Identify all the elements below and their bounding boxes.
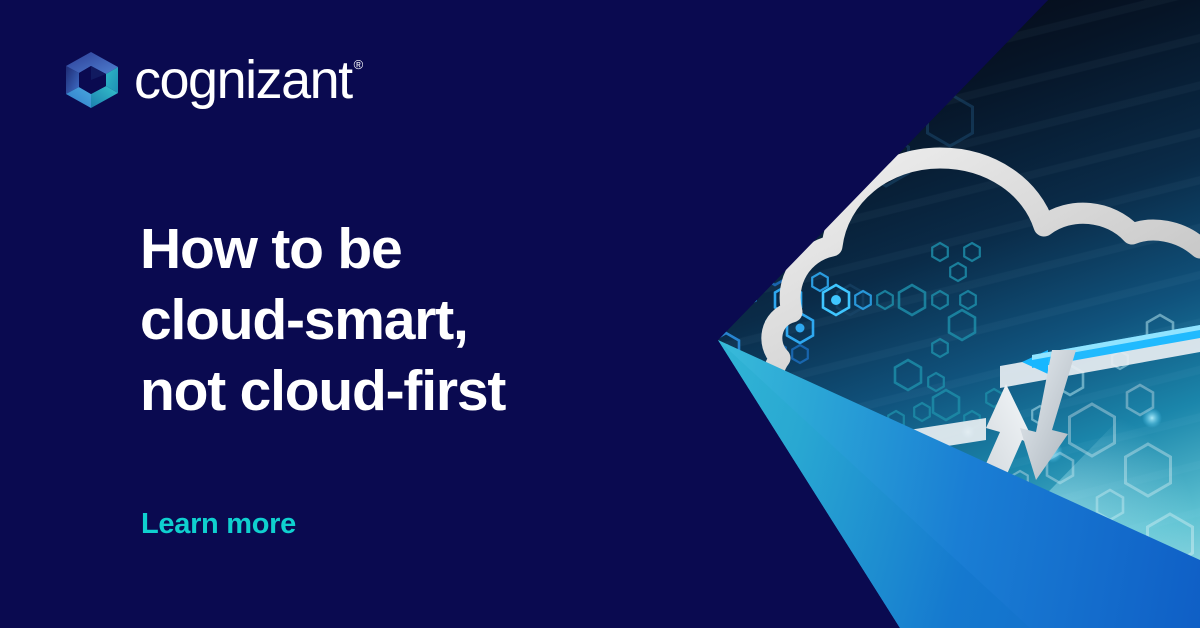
cognizant-logo[interactable]: cognizant ® — [62, 52, 363, 108]
learn-more-link[interactable]: Learn more — [141, 508, 296, 541]
cognizant-cloud-banner: cognizant ® How to be cloud-smart, not c… — [0, 0, 1200, 628]
cognizant-wordmark-wrap: cognizant ® — [134, 52, 363, 108]
headline-line-3: not cloud-first — [140, 356, 680, 427]
cognizant-wordmark: cognizant — [134, 52, 352, 108]
artwork-clip — [700, 0, 1200, 628]
cognizant-hexagon-logo-icon — [62, 50, 120, 110]
headline-line-1: How to be — [140, 214, 680, 285]
content-column: cognizant ® How to be cloud-smart, not c… — [0, 0, 700, 628]
page-title: How to be cloud-smart, not cloud-first — [140, 214, 680, 427]
registered-trademark-symbol: ® — [354, 58, 364, 71]
headline-line-2: cloud-smart, — [140, 285, 680, 356]
down-arrow-icon — [1020, 350, 1076, 480]
